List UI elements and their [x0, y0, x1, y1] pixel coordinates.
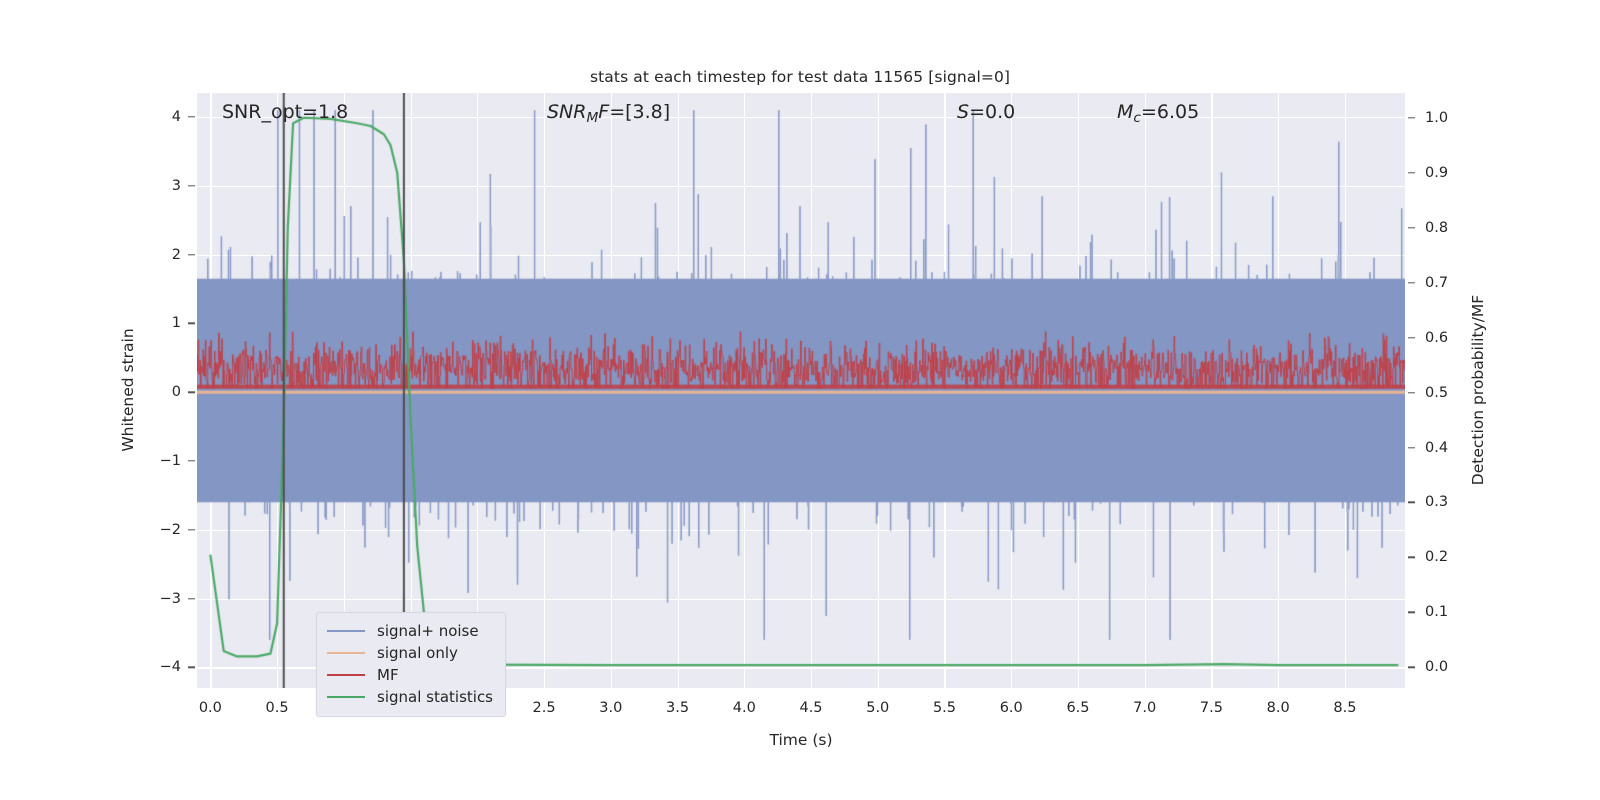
- y-tick-mark-left: [188, 529, 195, 530]
- x-tick-label: 7.0: [1133, 700, 1156, 716]
- y-tick-mark-left: [188, 598, 195, 599]
- plot-area: SNR_opt=1.8SNRMF=[3.8]S=0.0Mc=6.05: [197, 93, 1405, 688]
- legend-swatch: [327, 674, 365, 677]
- x-tick-label: 4.0: [733, 700, 756, 716]
- legend-swatch: [327, 652, 365, 655]
- y-tick-label-right: 0.1: [1425, 604, 1448, 620]
- legend-label: signal statistics: [377, 688, 493, 706]
- x-tick-label: 7.5: [1200, 700, 1223, 716]
- y-axis-left-label: Whitened strain: [119, 328, 137, 451]
- x-tick-label: 6.5: [1066, 700, 1089, 716]
- y-tick-label-right: 0.2: [1425, 549, 1448, 565]
- y-tick-mark-right: [1408, 502, 1415, 503]
- y-tick-mark-right: [1408, 392, 1415, 393]
- legend-item-0[interactable]: signal+ noise: [327, 620, 493, 642]
- y-tick-mark-right: [1408, 227, 1415, 228]
- y-tick-mark-right: [1408, 282, 1415, 283]
- y-tick-label-right: 0.7: [1425, 275, 1448, 291]
- y-tick-label-left: 3: [149, 178, 181, 194]
- data-layer: [197, 93, 1405, 688]
- y-tick-mark-left: [188, 254, 195, 255]
- y-tick-label-right: 0.6: [1425, 330, 1448, 346]
- page-title: stats at each timestep for test data 115…: [0, 68, 1600, 86]
- y-tick-label-right: 0.3: [1425, 494, 1448, 510]
- annotation-s-stat: S=0.0: [957, 101, 1015, 123]
- annotation-snr-mf: SNRMF=[3.8]: [547, 101, 670, 126]
- y-tick-mark-left: [188, 323, 195, 324]
- y-tick-label-left: −3: [149, 591, 181, 607]
- x-tick-label: 4.5: [799, 700, 822, 716]
- x-axis-label: Time (s): [769, 731, 832, 749]
- legend-label: signal+ noise: [377, 622, 479, 640]
- figure-canvas: stats at each timestep for test data 115…: [0, 0, 1600, 800]
- x-tick-label: 8.5: [1333, 700, 1356, 716]
- series-canvas: [197, 93, 1405, 688]
- y-tick-mark-left: [188, 460, 195, 461]
- y-tick-mark-right: [1408, 447, 1415, 448]
- y-tick-label-left: 4: [149, 109, 181, 125]
- y-tick-label-left: 0: [149, 384, 181, 400]
- x-tick-label: 8.0: [1267, 700, 1290, 716]
- y-tick-mark-right: [1408, 172, 1415, 173]
- y-tick-mark-left: [188, 667, 195, 668]
- x-tick-label: 5.0: [866, 700, 889, 716]
- legend-label: signal only: [377, 644, 458, 662]
- x-tick-label: 5.5: [933, 700, 956, 716]
- y-tick-label-left: 2: [149, 247, 181, 263]
- y-tick-label-right: 0.0: [1425, 659, 1448, 675]
- legend-item-2[interactable]: MF: [327, 664, 493, 686]
- y-tick-mark-right: [1408, 667, 1415, 668]
- y-tick-label-right: 0.8: [1425, 220, 1448, 236]
- x-tick-label: 0.5: [266, 700, 289, 716]
- y-tick-mark-left: [188, 116, 195, 117]
- y-tick-label-right: 0.9: [1425, 165, 1448, 181]
- y-axis-right-label: Detection probability/MF: [1469, 295, 1487, 485]
- y-tick-label-left: −4: [149, 659, 181, 675]
- y-tick-label-right: 0.5: [1425, 385, 1448, 401]
- y-tick-label-right: 1.0: [1425, 110, 1448, 126]
- x-tick-label: 0.0: [199, 700, 222, 716]
- y-tick-label-left: 1: [149, 315, 181, 331]
- y-tick-mark-left: [188, 392, 195, 393]
- annotation-mc: Mc=6.05: [1117, 101, 1199, 126]
- x-tick-label: 3.0: [599, 700, 622, 716]
- y-tick-mark-left: [188, 185, 195, 186]
- y-tick-mark-right: [1408, 337, 1415, 338]
- y-tick-mark-right: [1408, 557, 1415, 558]
- y-tick-label-right: 0.4: [1425, 440, 1448, 456]
- y-tick-mark-right: [1408, 612, 1415, 613]
- legend-item-1[interactable]: signal only: [327, 642, 493, 664]
- x-tick-label: 3.5: [666, 700, 689, 716]
- x-tick-label: 6.0: [1000, 700, 1023, 716]
- legend-swatch: [327, 696, 365, 699]
- x-tick-label: 2.5: [533, 700, 556, 716]
- annotation-snr-opt: SNR_opt=1.8: [222, 101, 348, 123]
- legend-item-3[interactable]: signal statistics: [327, 686, 493, 708]
- legend-label: MF: [377, 666, 399, 684]
- y-tick-label-left: −2: [149, 522, 181, 538]
- legend-swatch: [327, 630, 365, 633]
- y-tick-mark-right: [1408, 117, 1415, 118]
- legend: signal+ noisesignal onlyMFsignal statist…: [316, 612, 506, 717]
- y-tick-label-left: −1: [149, 453, 181, 469]
